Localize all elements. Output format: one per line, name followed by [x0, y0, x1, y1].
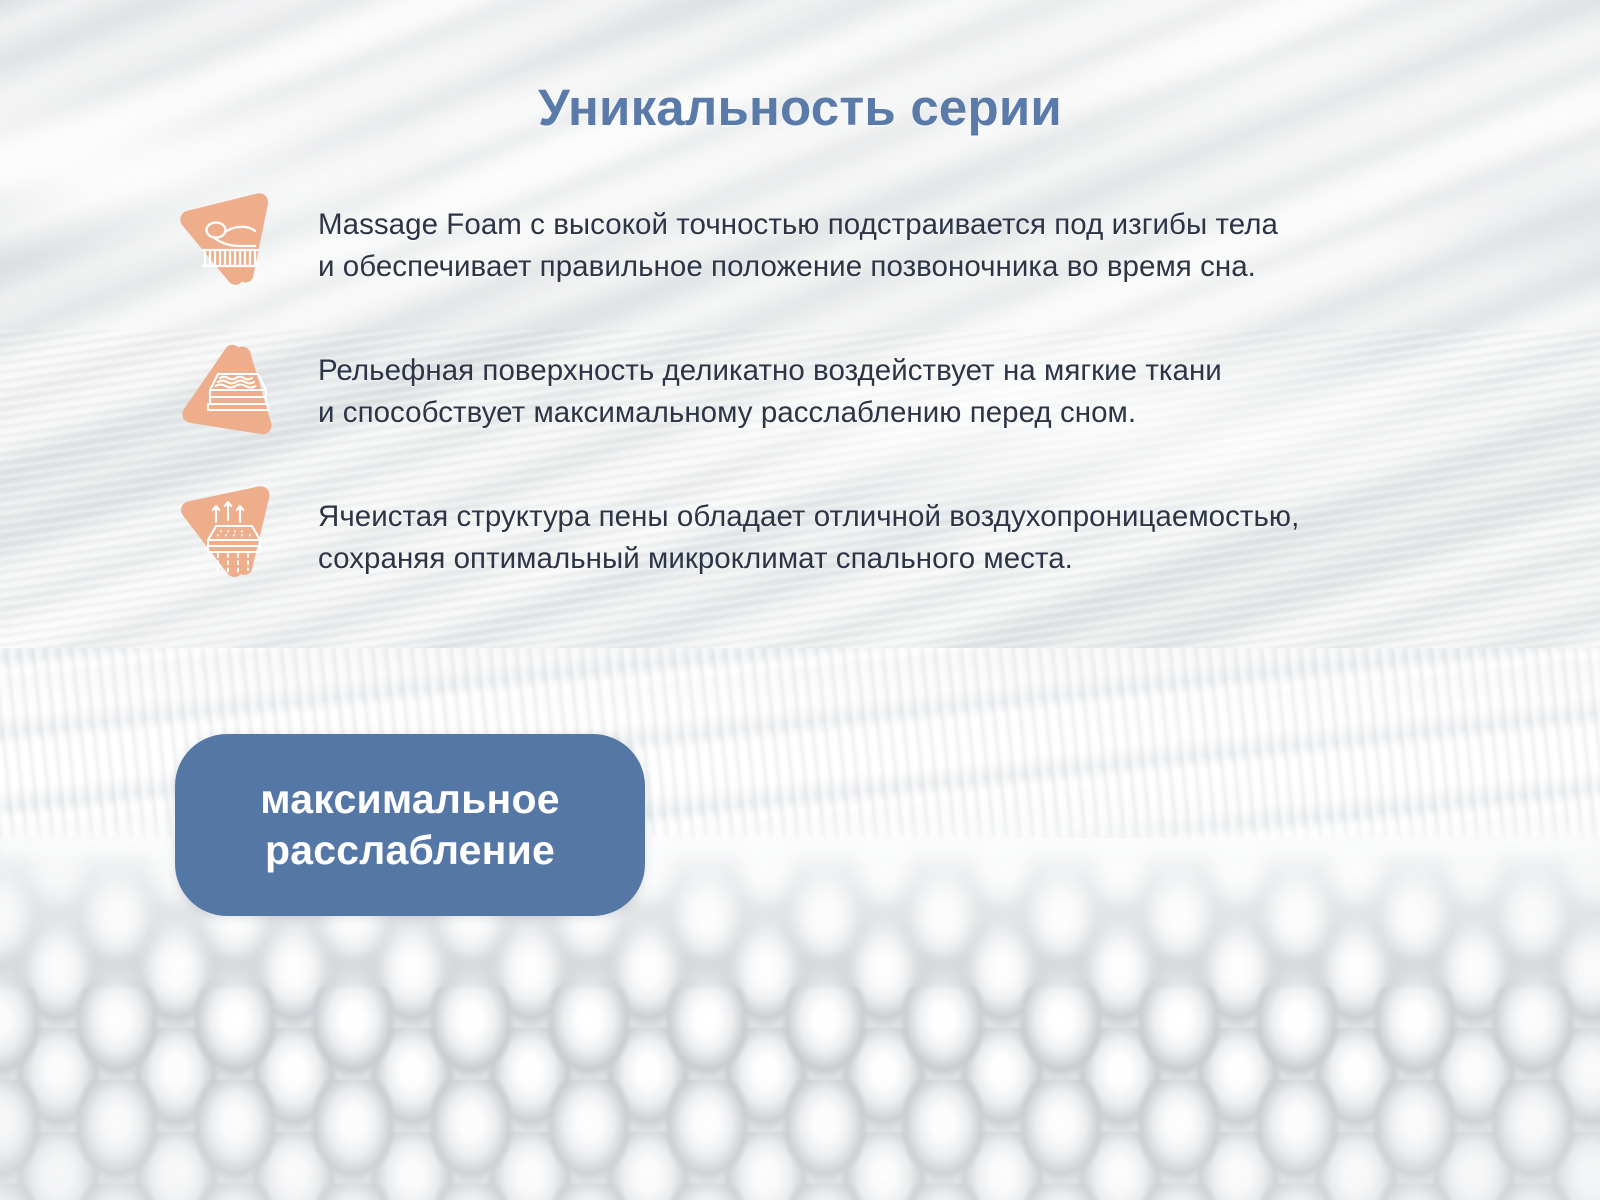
- status-badge: максимальное расслабление: [175, 734, 645, 916]
- feature-row-2: Рельефная поверхность деликатно воздейст…: [176, 334, 1476, 444]
- product-infographic-poster: Уникальность серии: [0, 0, 1600, 1200]
- badge-line-2: расслабление: [265, 825, 555, 876]
- mattress-breathability-airflow-icon: [176, 478, 288, 590]
- feature-text-1: Massage Foam с высокой точностью подстра…: [318, 188, 1278, 289]
- badge-line-1: максимальное: [260, 774, 559, 825]
- feature-row-3: Ячеистая структура пены обладает отлично…: [176, 480, 1476, 590]
- mattress-relief-surface-icon: [176, 332, 288, 444]
- feature-row-1: Massage Foam с высокой точностью подстра…: [176, 188, 1476, 298]
- person-on-mattress-icon: [176, 186, 288, 298]
- feature-text-3: Ячеистая структура пены обладает отлично…: [318, 480, 1299, 581]
- feature-text-2: Рельефная поверхность деликатно воздейст…: [318, 334, 1222, 435]
- content-layer: Уникальность серии: [0, 0, 1600, 1200]
- page-title: Уникальность серии: [0, 78, 1600, 137]
